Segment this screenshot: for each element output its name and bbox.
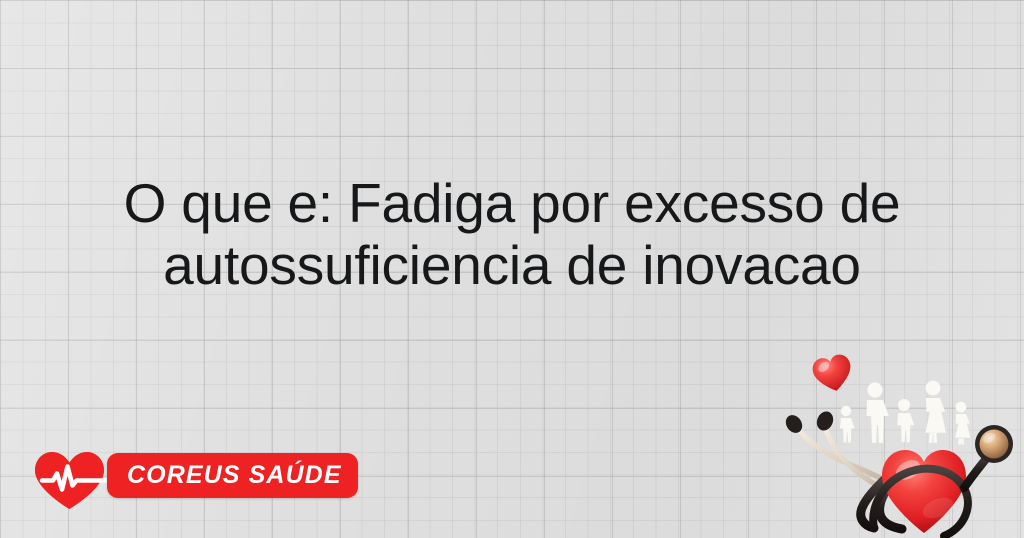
medical-illustration [778,348,1024,538]
family-silhouette-icon [840,381,970,445]
brand-badge-label: COREUS SAÚDE [127,461,342,490]
page-title: O que e: Fadiga por excesso de autossufi… [0,172,1024,296]
heart-pulse-icon [31,449,111,511]
brand-badge[interactable]: COREUS SAÚDE [107,453,358,498]
brand-lockup[interactable]: COREUS SAÚDE [31,449,361,511]
small-heart-icon [811,353,855,395]
large-heart-icon [882,450,966,533]
poster-canvas: O que e: Fadiga por excesso de autossufi… [0,0,1024,538]
stethoscope-chestpiece-icon [975,425,1013,463]
